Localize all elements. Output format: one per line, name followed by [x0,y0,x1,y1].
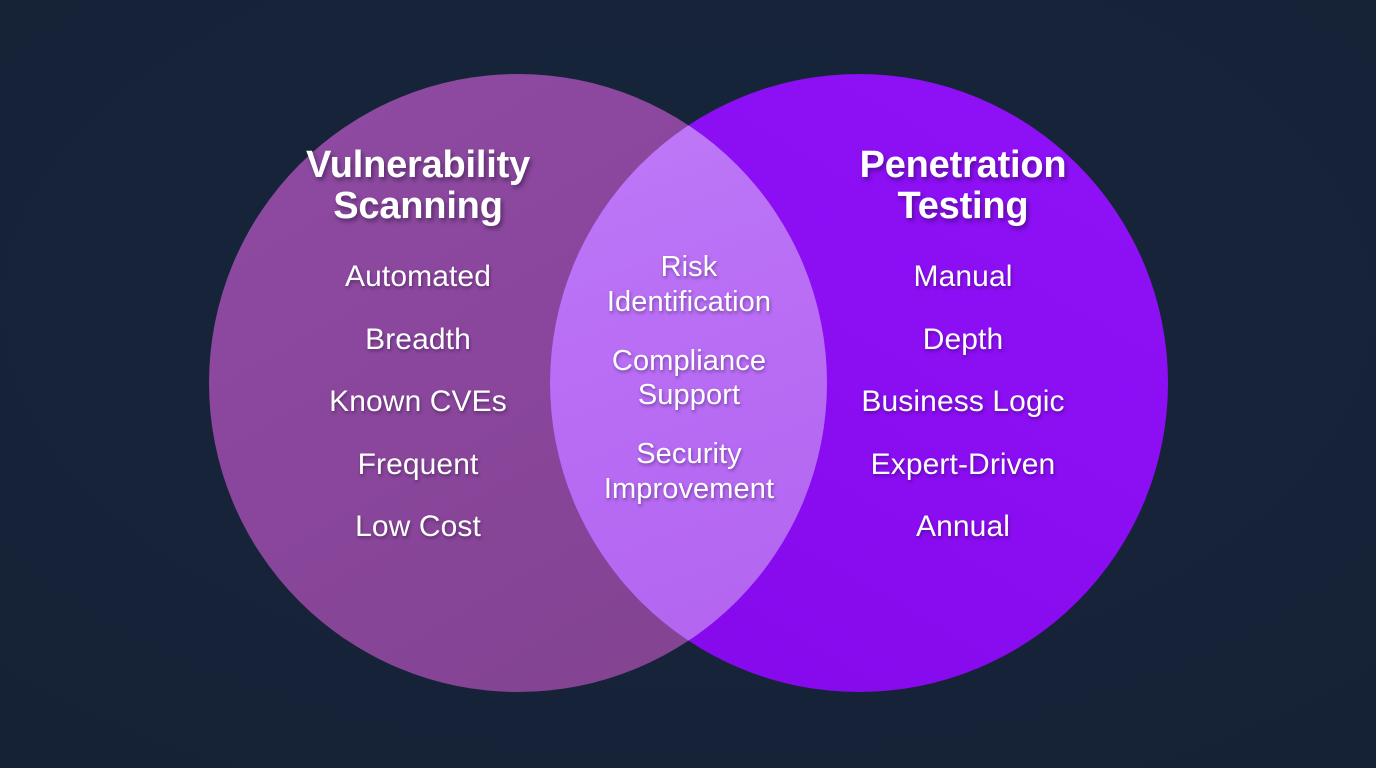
right-set-item: Depth [923,324,1004,356]
left-set-title: Vulnerability Scanning [306,145,530,227]
overlap-set-content: Risk Identification Compliance Support S… [569,250,809,507]
left-set-content: Vulnerability Scanning Automated Breadth… [268,145,568,543]
overlap-set-item: Compliance Support [612,344,766,414]
right-set-content: Penetration Testing Manual Depth Busines… [813,145,1113,543]
left-set-item: Known CVEs [329,386,507,418]
left-set-item: Breadth [365,324,471,356]
left-set-item: Automated [345,261,491,293]
right-set-item: Business Logic [861,386,1064,418]
right-set-item: Manual [914,261,1013,293]
overlap-set-item: Security Improvement [604,437,774,507]
overlap-set-item: Risk Identification [607,250,771,320]
right-set-item: Annual [916,511,1010,543]
right-set-title: Penetration Testing [860,145,1067,227]
left-set-item: Low Cost [355,511,481,543]
right-set-item: Expert-Driven [871,449,1056,481]
left-set-item: Frequent [358,449,479,481]
venn-diagram: Vulnerability Scanning Automated Breadth… [0,0,1376,768]
